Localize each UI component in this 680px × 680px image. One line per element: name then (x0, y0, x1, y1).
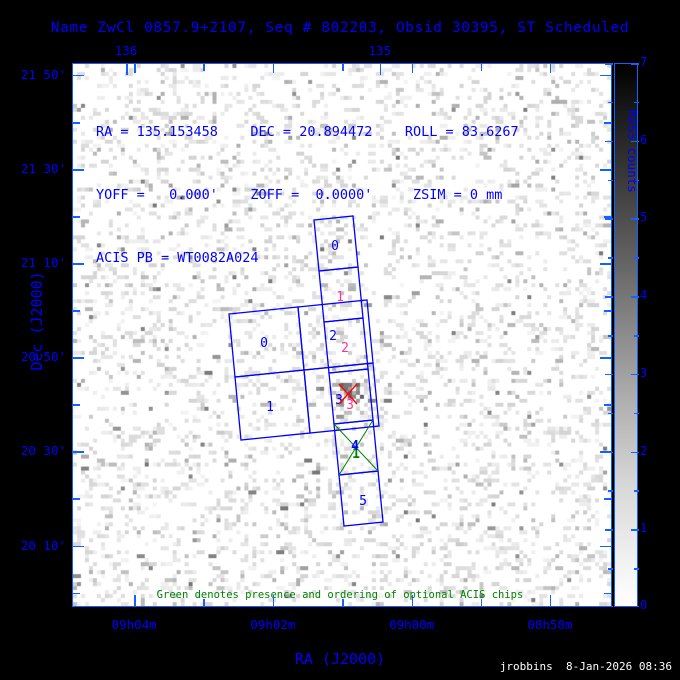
y-tick-label-1: 21 30' (10, 161, 66, 176)
axis-tick (73, 451, 84, 453)
colorbar-minor-tick (634, 568, 639, 570)
colorbar-tick (631, 529, 639, 531)
colorbar-tick-label-7: 7 (640, 55, 647, 69)
colorbar-tick (605, 606, 613, 608)
axis-tick (342, 64, 344, 71)
colorbar-minor-tick (608, 335, 613, 337)
axis-tick (604, 122, 611, 124)
x-tick-label-1: 09h02m (227, 617, 319, 632)
axis-tick (342, 599, 344, 606)
axis-tick (380, 64, 382, 75)
colorbar-title: RASS counts (625, 110, 640, 193)
axis-tick (550, 64, 552, 73)
colorbar-minor-tick (634, 102, 639, 104)
axis-tick (73, 122, 80, 124)
axis-tick (600, 75, 611, 77)
colorbar-tick-label-4: 4 (640, 288, 647, 302)
axis-tick (550, 595, 552, 606)
colorbar-tick-label-6: 6 (640, 133, 647, 147)
axis-tick (203, 64, 205, 71)
axis-tick (600, 451, 611, 453)
colorbar-tick (605, 529, 613, 531)
y-tick-label-3: 20 50' (10, 349, 66, 364)
axis-tick (600, 263, 611, 265)
colorbar-tick-label-5: 5 (640, 210, 647, 224)
acis-i-chip-0-label: 0 (260, 336, 268, 351)
axis-tick (604, 593, 611, 595)
axis-tick (604, 216, 611, 218)
axis-tick (73, 75, 84, 77)
colorbar-minor-tick (634, 257, 639, 259)
axis-tick (73, 593, 80, 595)
axis-tick (126, 64, 128, 75)
y-tick-label-5: 20 10' (10, 538, 66, 553)
acis-s-chip-2-label: 2 (341, 341, 349, 356)
colorbar-tick (605, 141, 613, 143)
axis-tick (600, 546, 611, 548)
axis-tick (73, 357, 84, 359)
colorbar-tick (631, 452, 639, 454)
param-line-acis-pb: ACIS PB = WT0082A024 (96, 248, 519, 269)
axis-tick (481, 64, 483, 71)
axis-tick (73, 546, 84, 548)
colorbar-minor-tick (608, 490, 613, 492)
axis-tick (481, 599, 483, 606)
param-line-ra-dec-roll: RA = 135.153458 DEC = 20.894472 ROLL = 8… (96, 122, 519, 143)
colorbar-minor-tick (608, 568, 613, 570)
colorbar-tick (605, 218, 613, 220)
colorbar-tick-label-3: 3 (640, 366, 647, 380)
x-tick-label-0: 09h04m (88, 617, 180, 632)
colorbar-tick-label-0: 0 (640, 598, 647, 612)
y-axis-label: Dec (J2000) (28, 221, 46, 421)
y-tick-label-2: 21 10' (10, 255, 66, 270)
axis-tick (412, 64, 414, 73)
colorbar-minor-tick (608, 257, 613, 259)
colorbar-tick (605, 296, 613, 298)
observation-parameters: RA = 135.153458 DEC = 20.894472 ROLL = 8… (96, 80, 519, 290)
acis-s-chip-4-label: 4 (351, 439, 359, 454)
axis-tick (73, 263, 84, 265)
axis-tick (73, 310, 80, 312)
axis-tick (273, 64, 275, 73)
colorbar-tick (631, 606, 639, 608)
axis-tick (203, 599, 205, 606)
axis-tick (134, 595, 136, 606)
axis-tick (600, 169, 611, 171)
colorbar-tick (631, 296, 639, 298)
colorbar-minor-tick (634, 335, 639, 337)
credit-stamp: jrobbins 8-Jan-2026 08:36 (500, 660, 672, 673)
x-tick-label-2: 09h00m (366, 617, 458, 632)
axis-tick (412, 595, 414, 606)
page-title: Name ZwCl 0857.9+2107, Seq # 802203, Obs… (0, 20, 680, 36)
axis-tick (73, 216, 80, 218)
optional-chips-note: Green denotes presence and ordering of o… (0, 589, 680, 601)
colorbar-minor-tick (608, 102, 613, 104)
y-tick-label-4: 20 30' (10, 443, 66, 458)
axis-tick (73, 169, 84, 171)
colorbar-tick (605, 374, 613, 376)
axis-tick (134, 64, 136, 73)
acis-i-chip-2-label: 2 (329, 329, 337, 344)
x-tick-label-3: 08h58m (504, 617, 596, 632)
x-top-tick-label-0: 136 (86, 43, 166, 58)
colorbar-tick (631, 374, 639, 376)
colorbar-tick (631, 218, 639, 220)
axis-tick (604, 404, 611, 406)
axis-tick (273, 595, 275, 606)
axis-tick (73, 498, 80, 500)
colorbar-tick-label-1: 1 (640, 521, 647, 535)
colorbar-tick (631, 63, 639, 65)
colorbar-minor-tick (634, 413, 639, 415)
param-line-offsets: YOFF = 0.000' ZOFF = 0.0000' ZSIM = 0 mm (96, 185, 519, 206)
axis-tick (604, 498, 611, 500)
acis-s-chip-1-label: 1 (336, 290, 344, 305)
colorbar-minor-tick (634, 490, 639, 492)
y-tick-label-0: 21 50' (10, 67, 66, 82)
colorbar-tick (605, 63, 613, 65)
colorbar-minor-tick (608, 180, 613, 182)
acis-i-chip-1-label: 1 (266, 400, 274, 415)
acis-s-chip-5-label: 5 (359, 494, 367, 509)
axis-tick (600, 357, 611, 359)
axis-tick (604, 310, 611, 312)
colorbar-tick-label-2: 2 (640, 444, 647, 458)
x-top-tick-label-1: 135 (340, 43, 420, 58)
colorbar-minor-tick (608, 413, 613, 415)
axis-tick (73, 404, 80, 406)
